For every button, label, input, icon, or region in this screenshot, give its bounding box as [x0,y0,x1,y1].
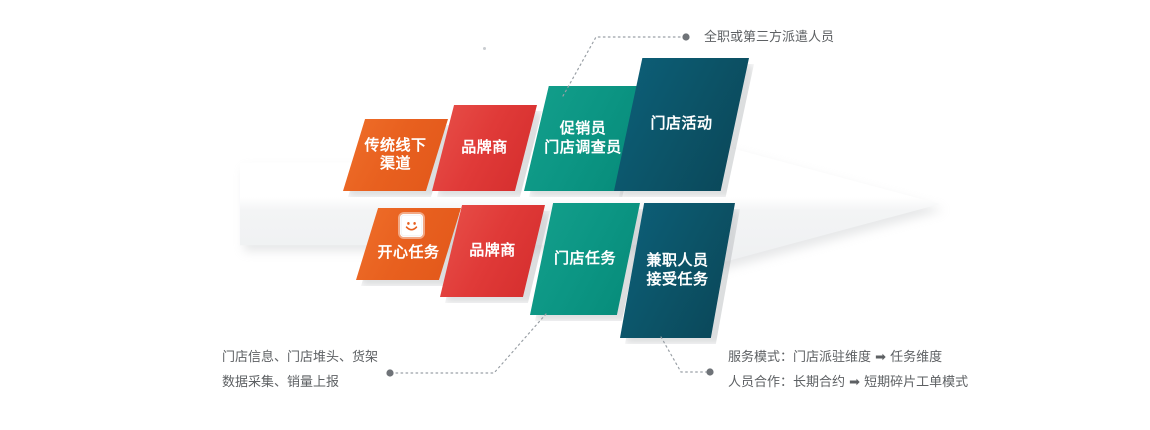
annotation-data-collection: 门店信息、门店堆头、货架 数据采集、销量上报 [222,345,378,395]
step-label: 促销员 门店调查员 [544,119,622,158]
step-label: 品牌商 [461,138,508,158]
step-label: 品牌商 [469,241,516,261]
connector-dot-service-model [706,368,713,375]
step-top-store-activity[interactable]: 门店活动 [614,58,749,191]
connector-data-collection [392,314,546,373]
step-label: 门店活动 [650,114,712,134]
annotation-staffing: 全职或第三方派遣人员 [704,25,834,50]
step-bottom-parttime-accept-task[interactable]: 兼职人员 接受任务 [620,203,735,338]
connector-dot-staffing [682,33,689,40]
annotation-service-model: 服务模式：门店派驻维度 ➡ 任务维度 人员合作：长期合约 ➡ 短期碎片工单模式 [728,345,968,395]
step-label: 兼职人员 接受任务 [646,251,708,290]
diagram-canvas: 传统线下 渠道 品牌商 促销员 门店调查员 门店活动 开心任务 [0,0,1150,430]
step-label: 传统线下 渠道 [364,136,426,175]
connector-dot-data-collection [386,369,393,376]
smiley-icon [400,214,423,237]
step-top-brand-owner[interactable]: 品牌商 [432,105,537,191]
step-label: 门店任务 [554,249,616,269]
decorative-speck [483,47,486,50]
